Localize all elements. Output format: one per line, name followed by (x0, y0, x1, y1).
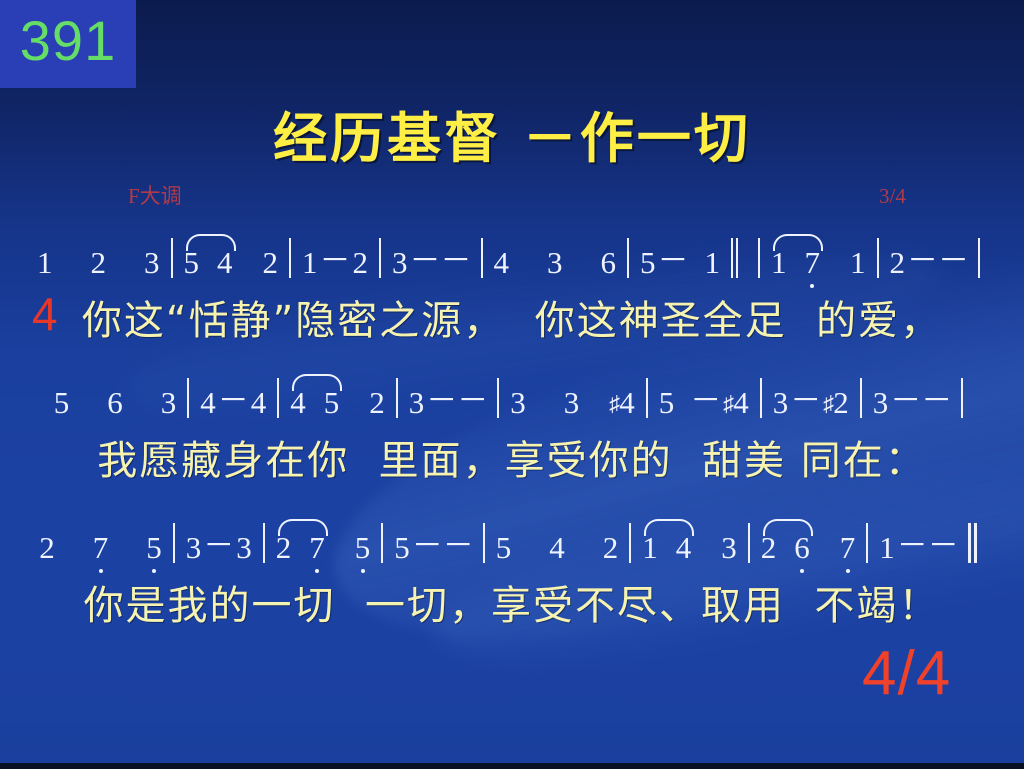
barline (760, 378, 762, 418)
note: 1 (769, 247, 789, 280)
notation-row-3: 2753－32755－－5421432671－－ (0, 511, 1024, 565)
measure: 5－1 (638, 235, 722, 280)
barline (627, 238, 629, 278)
music-system-1: 1235421－23－－4365－11712－－ 你这“恬静”隐密之源， 你这神… (0, 226, 1024, 346)
note: 5 (657, 387, 677, 420)
measure: 123 (35, 247, 162, 280)
barline (758, 238, 760, 278)
barline (481, 238, 483, 278)
sharp-icon: ♯ (609, 391, 620, 416)
note: 1 (35, 247, 55, 280)
duration-dash: －－ (907, 235, 969, 280)
note: 2 (274, 532, 294, 565)
note: 7 (91, 532, 111, 565)
note: 5 (322, 387, 342, 420)
note: 3 (719, 532, 739, 565)
sharp-icon: ♯ (823, 391, 834, 416)
note: ♯4 (721, 387, 751, 420)
hymn-number: 391 (20, 13, 116, 75)
final-barline (968, 523, 971, 563)
note: 5 (638, 247, 658, 280)
measure: 143 (640, 532, 739, 565)
barline (877, 238, 879, 278)
note: 7 (803, 247, 823, 280)
duration-dash: －－ (890, 375, 952, 420)
note: 3 (771, 387, 791, 420)
measure: 3－3 (184, 520, 254, 565)
note: 4 (492, 247, 512, 280)
note: 4 (215, 247, 235, 280)
key-signature-label: F大调 (128, 180, 182, 210)
barline (483, 523, 485, 563)
duration-dash: － (203, 520, 234, 565)
note: 2 (601, 532, 621, 565)
note: 4 (198, 387, 218, 420)
measure: 563 (52, 387, 179, 420)
duration-dash: － (658, 235, 689, 280)
note: 5 (182, 247, 202, 280)
barline (171, 238, 173, 278)
measure: 2－－ (888, 235, 970, 280)
measure: 542 (182, 247, 281, 280)
lyric-row-1: 你这“恬静”隐密之源， 你这神圣全足 的爱， (0, 288, 1024, 346)
note: 5 (52, 387, 72, 420)
duration-dash: －－ (426, 375, 488, 420)
measure: 436 (492, 247, 619, 280)
barline (860, 378, 862, 418)
page-title: 经历基督 －作一切 (0, 94, 1024, 173)
measure: 3－♯2 (771, 375, 851, 420)
note: 5 (144, 532, 164, 565)
barline (277, 378, 279, 418)
notation-row-2: 5634－44523－－33♯45－♯43－♯23－－ (0, 366, 1024, 420)
note: 3 (142, 247, 162, 280)
time-signature-top: 3/4 (879, 184, 906, 209)
slide-bottom-strip (0, 763, 1024, 769)
barline (497, 378, 499, 418)
note: 1 (300, 247, 320, 280)
sharp-icon: ♯ (723, 391, 734, 416)
barline (289, 238, 291, 278)
barline (187, 378, 189, 418)
duration-dash: － (790, 375, 821, 420)
note: ♯4 (607, 387, 637, 420)
duration-dash: － (320, 235, 351, 280)
note: 3 (159, 387, 179, 420)
measure: 267 (759, 532, 858, 565)
barline (646, 378, 648, 418)
time-signature-bottom: 4/4 (862, 638, 951, 709)
note: 3 (871, 387, 891, 420)
note: 3 (508, 387, 528, 420)
notation-row-1: 1235421－23－－4365－11712－－ (0, 226, 1024, 280)
measure: 5－♯4 (657, 375, 751, 420)
note: 1 (848, 247, 868, 280)
barline (961, 378, 963, 418)
hymn-number-badge: 391 (0, 0, 136, 88)
measure: 171 (769, 247, 868, 280)
note: 4 (674, 532, 694, 565)
note: 7 (307, 532, 327, 565)
duration-dash: －－ (410, 235, 472, 280)
note: 6 (792, 532, 812, 565)
barline (263, 523, 265, 563)
barline (173, 523, 175, 563)
note: 2 (89, 247, 109, 280)
note: 3 (562, 387, 582, 420)
music-system-3: 2753－32755－－5421432671－－ 你是我的一切 一切，享受不尽、… (0, 511, 1024, 631)
note: 3 (407, 387, 427, 420)
barline (978, 238, 980, 278)
measure: 275 (37, 532, 164, 565)
duration-dash: － (218, 375, 249, 420)
barline (379, 238, 381, 278)
measure: 452 (288, 387, 387, 420)
duration-dash: － (690, 375, 721, 420)
note: 2 (367, 387, 387, 420)
note: 5 (353, 532, 373, 565)
note: 3 (234, 532, 254, 565)
measure: 1－2 (300, 235, 370, 280)
note: 2 (759, 532, 779, 565)
barline (731, 238, 733, 278)
note: 2 (261, 247, 281, 280)
barline (381, 523, 383, 563)
barline (866, 523, 868, 563)
note: 6 (105, 387, 125, 420)
note: 2 (37, 532, 57, 565)
note: 7 (838, 532, 858, 565)
duration-dash: －－ (897, 520, 959, 565)
note: 4 (547, 532, 567, 565)
note: 2 (351, 247, 371, 280)
measure: 3－－ (871, 375, 953, 420)
lyric-row-3: 你是我的一切 一切，享受不尽、取用 不竭！ (0, 573, 1024, 631)
measure: 4－4 (198, 375, 268, 420)
measure: 275 (274, 532, 373, 565)
note: 1 (640, 532, 660, 565)
measure: 1－－ (877, 520, 959, 565)
note: 5 (494, 532, 514, 565)
measure: 3－－ (390, 235, 472, 280)
barline (629, 523, 631, 563)
measure: 542 (494, 532, 621, 565)
note: 4 (288, 387, 308, 420)
music-system-2: 5634－44523－－33♯45－♯43－♯23－－ 我愿藏身在你 里面，享受… (0, 366, 1024, 486)
barline (396, 378, 398, 418)
duration-dash: －－ (412, 520, 474, 565)
barline (748, 523, 750, 563)
note: 1 (877, 532, 897, 565)
note: 3 (545, 247, 565, 280)
note: 2 (888, 247, 908, 280)
note: 6 (599, 247, 619, 280)
note: 5 (392, 532, 412, 565)
lyric-row-2: 我愿藏身在你 里面，享受你的 甜美 同在： (0, 428, 1024, 486)
measure: 3－－ (407, 375, 489, 420)
measure: 33♯4 (508, 387, 637, 420)
note: 3 (184, 532, 204, 565)
note: 1 (703, 247, 723, 280)
hymn-slide: 391 经历基督 －作一切 F大调 3/4 4 1235421－23－－4365… (0, 0, 1024, 769)
note: 4 (249, 387, 269, 420)
measure: 5－－ (392, 520, 474, 565)
note: ♯2 (821, 387, 851, 420)
note: 3 (390, 247, 410, 280)
